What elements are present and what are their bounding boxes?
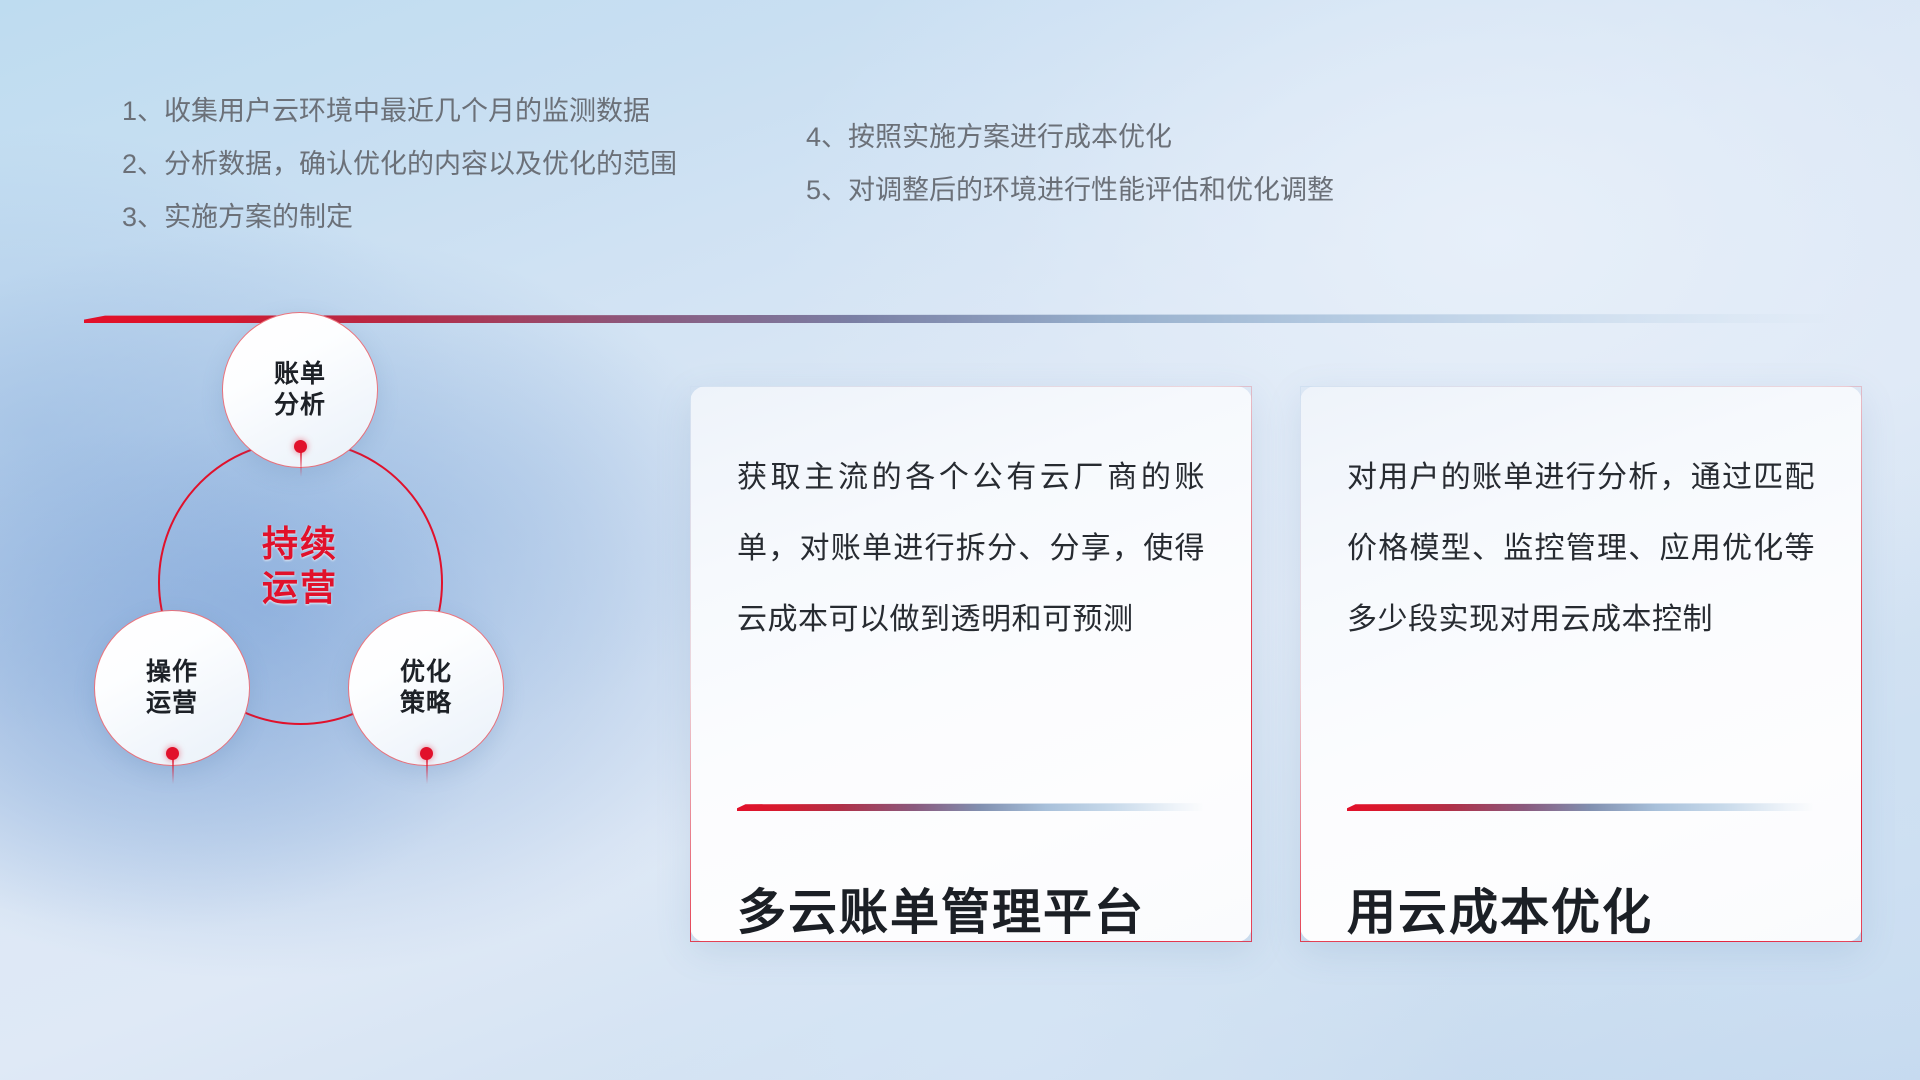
node-label-line1: 账单 <box>274 359 326 391</box>
bullet-item: 5、对调整后的环境进行性能评估和优化调整 <box>806 177 1334 204</box>
card-body-text: 获取主流的各个公有云厂商的账单，对账单进行拆分、分享，使得云成本可以做到透明和可… <box>737 443 1205 655</box>
node-label-line1: 操作 <box>146 657 198 689</box>
diagram-connector-tail-top <box>300 451 302 477</box>
diagram-center-label: 持续 运营 <box>224 522 376 610</box>
center-label-line1: 持续 <box>224 522 376 566</box>
node-label-line2: 策略 <box>400 688 452 720</box>
card-divider-bar <box>737 803 1205 811</box>
diagram-connector-tail-right <box>426 758 428 784</box>
bullet-item: 2、分析数据，确认优化的内容以及优化的范围 <box>122 151 677 178</box>
card-divider <box>737 803 1205 811</box>
bullet-list-left: 1、收集用户云环境中最近几个月的监测数据 2、分析数据，确认优化的内容以及优化的… <box>122 98 677 231</box>
bullet-item: 3、实施方案的制定 <box>122 204 677 231</box>
cycle-diagram: 账单 分析 操作 运营 优化 策略 持续 运营 <box>86 300 586 800</box>
card-title: 用云成本优化 <box>1347 887 1815 941</box>
node-label-line2: 分析 <box>274 390 326 422</box>
bullet-item: 4、按照实施方案进行成本优化 <box>806 124 1334 151</box>
diagram-node-operations[interactable]: 操作 运营 <box>94 610 250 766</box>
feature-card-multicloud-billing[interactable]: 获取主流的各个公有云厂商的账单，对账单进行拆分、分享，使得云成本可以做到透明和可… <box>690 386 1252 942</box>
bullet-list-right: 4、按照实施方案进行成本优化 5、对调整后的环境进行性能评估和优化调整 <box>806 124 1334 204</box>
card-title: 多云账单管理平台 <box>737 887 1205 941</box>
node-label-line1: 优化 <box>400 657 452 689</box>
diagram-node-optimization-strategy[interactable]: 优化 策略 <box>348 610 504 766</box>
card-divider <box>1347 803 1815 811</box>
card-body-text: 对用户的账单进行分析，通过匹配价格模型、监控管理、应用优化等多少段实现对用云成本… <box>1347 443 1815 655</box>
center-label-line2: 运营 <box>224 566 376 610</box>
node-label-line2: 运营 <box>146 688 198 720</box>
diagram-connector-tail-left <box>172 758 174 784</box>
card-divider-bar <box>1347 803 1815 811</box>
feature-card-cloud-cost-optimization[interactable]: 对用户的账单进行分析，通过匹配价格模型、监控管理、应用优化等多少段实现对用云成本… <box>1300 386 1862 942</box>
bullet-item: 1、收集用户云环境中最近几个月的监测数据 <box>122 98 677 125</box>
slide-canvas: 1、收集用户云环境中最近几个月的监测数据 2、分析数据，确认优化的内容以及优化的… <box>0 0 1920 1080</box>
